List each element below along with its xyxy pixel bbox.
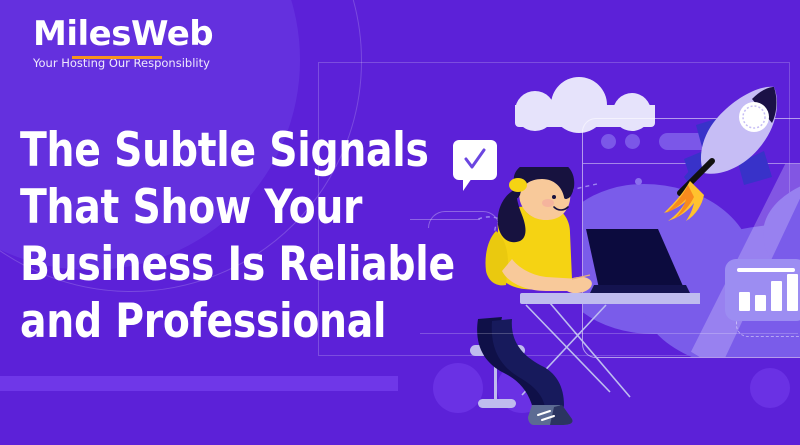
person-at-laptop-illustration <box>450 167 700 445</box>
headline-line-1: The Subtle Signals <box>20 122 392 179</box>
headline-line-3: Business Is Reliable <box>20 236 392 293</box>
browser-dot-1 <box>601 134 616 149</box>
bar-chart-card-icon <box>725 259 800 321</box>
chart-bar-2 <box>755 295 766 311</box>
page-title: The Subtle Signals That Show Your Busine… <box>20 122 392 350</box>
browser-dot-2 <box>625 134 640 149</box>
headline-line-2: That Show Your <box>20 179 392 236</box>
headline-line-4: and Professional <box>20 293 392 350</box>
hero-illustration <box>420 55 800 445</box>
chart-bar-3 <box>771 281 782 311</box>
promo-banner: MilesWeb Your Hosting Our Responsiblity … <box>0 0 800 445</box>
brand-underline-accent <box>72 56 162 59</box>
chart-bar-1 <box>739 292 750 311</box>
chart-bar-4 <box>787 274 798 311</box>
bottom-accent-bar <box>0 376 398 391</box>
brand-name: MilesWeb <box>33 14 233 54</box>
chart-card-title-bar <box>737 268 795 272</box>
brand-logo[interactable]: MilesWeb Your Hosting Our Responsiblity <box>33 14 233 71</box>
floor-line-decor <box>420 333 798 334</box>
